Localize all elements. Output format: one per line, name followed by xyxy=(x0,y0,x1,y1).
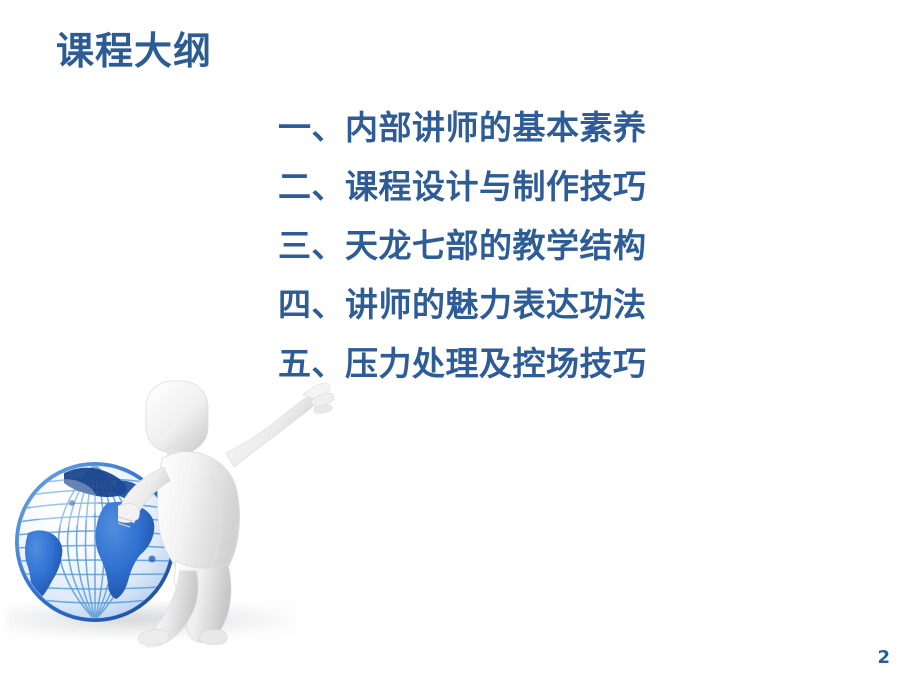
3d-figure-icon xyxy=(118,375,340,650)
illustration-3d-figure-with-globe xyxy=(0,375,340,680)
list-item: 三、天龙七部的教学结构 xyxy=(278,216,698,275)
list-item: 五、压力处理及控场技巧 xyxy=(278,334,698,393)
page-title: 课程大纲 xyxy=(56,30,212,74)
page-number: 2 xyxy=(877,647,890,668)
list-item: 二、课程设计与制作技巧 xyxy=(278,157,698,216)
list-item: 一、内部讲师的基本素养 xyxy=(278,98,698,157)
list-item: 四、讲师的魅力表达功法 xyxy=(278,275,698,334)
outline-list: 一、内部讲师的基本素养 二、课程设计与制作技巧 三、天龙七部的教学结构 四、讲师… xyxy=(278,98,698,393)
slide-canvas: 课程大纲 一、内部讲师的基本素养 二、课程设计与制作技巧 三、天龙七部的教学结构… xyxy=(0,0,920,690)
